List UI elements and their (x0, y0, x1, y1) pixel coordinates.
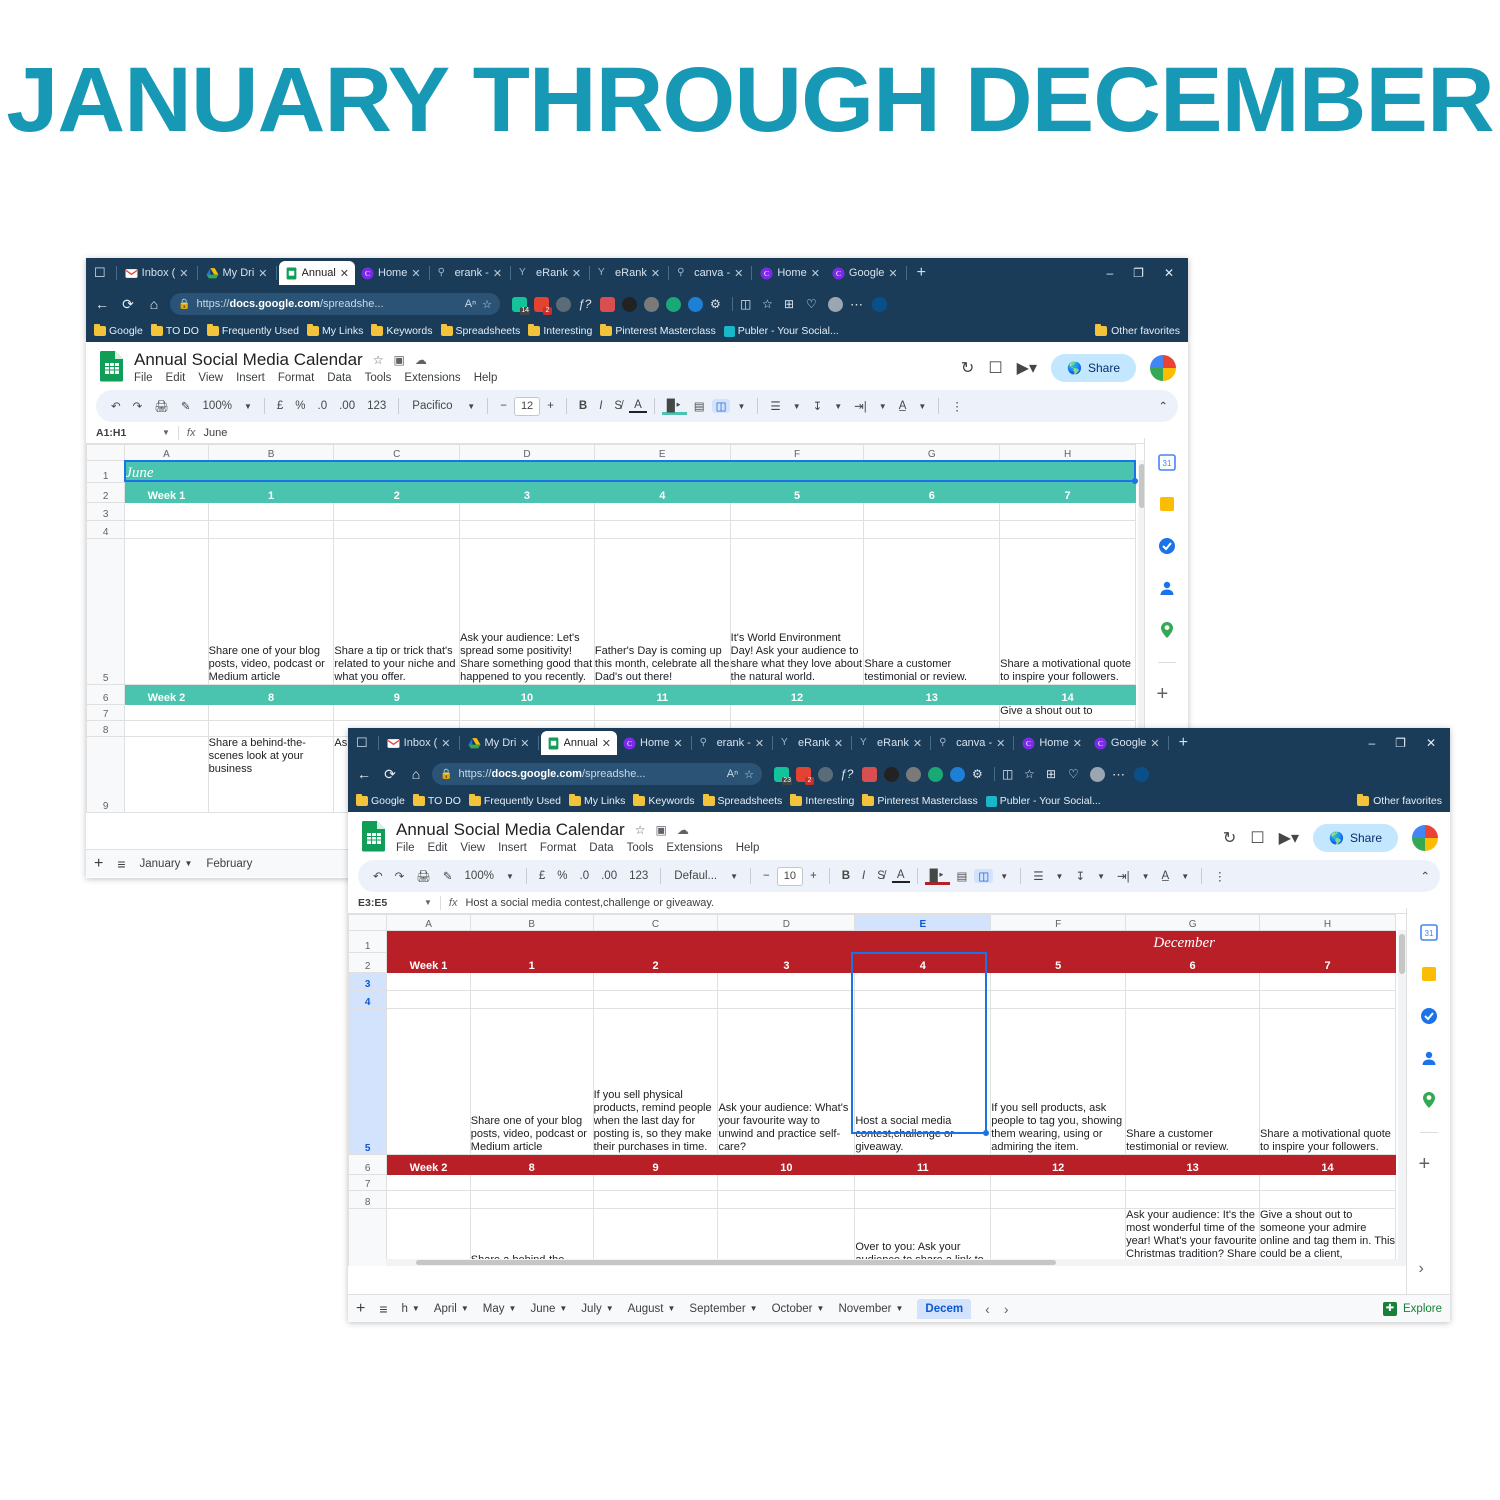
menu-view[interactable]: View (198, 372, 223, 384)
tab-canva-search[interactable]: ⚲ canva - ✕ (933, 731, 1011, 755)
name-box[interactable]: E3:E5 (352, 897, 424, 909)
week1-day[interactable]: 1 (208, 483, 334, 503)
fill-color-icon[interactable]: █‣ (662, 398, 687, 415)
tab-erank-1[interactable]: Y eRank ✕ (775, 731, 849, 755)
vertical-align-icon[interactable]: ↧ (808, 399, 828, 413)
collections-icon[interactable]: ☆ (762, 297, 777, 312)
row-header-4[interactable]: 4 (349, 991, 387, 1009)
grid-cell[interactable] (593, 991, 718, 1009)
horizontal-align-icon[interactable]: ☰ (765, 399, 785, 413)
menu-help[interactable]: Help (474, 372, 498, 384)
chevron-down-icon[interactable]: ▼ (1051, 872, 1069, 881)
comment-icon[interactable]: ☐ (1250, 828, 1264, 848)
col-header-e[interactable]: E (594, 445, 730, 461)
col-header-h[interactable]: H (1000, 445, 1136, 461)
decrease-font-size-button[interactable]: − (495, 400, 512, 412)
menu-format[interactable]: Format (540, 842, 576, 854)
more-options-icon[interactable]: ⋮ (1209, 869, 1231, 883)
row-header-8[interactable]: 8 (349, 1191, 387, 1209)
percent-button[interactable]: % (290, 400, 310, 412)
grid-cell[interactable] (864, 503, 1000, 521)
week2-day[interactable]: 8 (208, 685, 334, 705)
grid-cell[interactable] (125, 737, 208, 813)
bookmark-pinterest-masterclass[interactable]: Pinterest Masterclass (600, 325, 718, 337)
tab-erank-1[interactable]: Y eRank ✕ (513, 261, 587, 285)
bookmark-google[interactable]: Google (356, 795, 408, 807)
text-rotation-icon[interactable]: A̲ (1157, 870, 1175, 882)
calendar-icon[interactable]: 31 (1157, 452, 1177, 472)
profile-avatar[interactable] (1090, 767, 1105, 782)
home-icon[interactable]: ⌂ (406, 766, 426, 782)
vertical-align-icon[interactable]: ↧ (1070, 869, 1090, 883)
grid-cell[interactable] (387, 1191, 471, 1209)
print-icon[interactable]: 🖨 (149, 399, 174, 413)
chevron-down-icon[interactable]: ▼ (1137, 872, 1155, 881)
grid-cell[interactable] (1000, 503, 1136, 521)
wordtune-icon[interactable] (644, 297, 659, 312)
shopping-icon[interactable] (928, 767, 943, 782)
grid-cell[interactable] (991, 1191, 1126, 1209)
increase-decimal-button[interactable]: .00 (334, 400, 360, 412)
month-title-cell[interactable]: June (125, 461, 1136, 483)
grid-cell[interactable] (125, 721, 208, 737)
row-header-6[interactable]: 6 (349, 1155, 387, 1175)
close-icon[interactable]: ✕ (493, 267, 502, 280)
font-icon[interactable]: ƒ? (578, 297, 593, 312)
bookmark-my-links[interactable]: My Links (307, 325, 366, 337)
font-family-select[interactable]: Defaul... (668, 870, 723, 882)
row-header-6[interactable]: 6 (87, 685, 125, 705)
increase-decimal-button[interactable]: .00 (596, 870, 622, 882)
merge-cells-icon[interactable]: ◫ (712, 399, 731, 413)
sheet-tab-august[interactable]: August▼ (628, 1303, 676, 1315)
refresh-icon[interactable]: ⟳ (118, 296, 138, 313)
grid-cell[interactable] (1126, 973, 1260, 991)
browser-window-december[interactable]: ☐ Inbox ( ✕ My Dri ✕ Annual ✕ C Home (348, 728, 1450, 1322)
add-sheet-button[interactable]: + (356, 1300, 365, 1318)
menu-tools[interactable]: Tools (627, 842, 654, 854)
back-icon[interactable]: ← (92, 296, 112, 312)
bookmark-interesting[interactable]: Interesting (528, 325, 595, 337)
bookmark-publer[interactable]: Publer - Your Social... (986, 795, 1104, 807)
close-icon[interactable]: ✕ (340, 267, 349, 280)
grid-cell[interactable]: Father's Day is coming up this month, ce… (594, 539, 730, 685)
row-header-1[interactable]: 1 (349, 931, 387, 953)
keep-icon[interactable] (1419, 964, 1439, 984)
strikethrough-button[interactable]: S̸ (609, 400, 627, 412)
col-header-f[interactable]: F (991, 915, 1126, 931)
bookmark-keywords[interactable]: Keywords (633, 795, 697, 807)
comment-icon[interactable]: ☐ (988, 358, 1002, 378)
chevron-down-icon[interactable]: ▼ (1092, 872, 1110, 881)
row-header-3[interactable]: 3 (349, 973, 387, 991)
grid-cell[interactable] (991, 1175, 1126, 1191)
bold-button[interactable]: B (837, 870, 855, 882)
bing-copilot-icon[interactable] (872, 297, 887, 312)
close-icon[interactable]: ✕ (411, 267, 420, 280)
menu-insert[interactable]: Insert (236, 372, 265, 384)
split-screen-icon[interactable]: ◫ (740, 297, 755, 312)
grid-cell[interactable] (470, 1191, 593, 1209)
grid-cell[interactable]: If you sell products, ask people to tag … (991, 1009, 1126, 1155)
col-header-c[interactable]: C (334, 445, 460, 461)
grammarly-icon[interactable]: 14 (512, 297, 527, 312)
grid-cell[interactable] (594, 503, 730, 521)
week1-day[interactable]: 4 (594, 483, 730, 503)
zoom-level[interactable]: 100% (460, 870, 499, 882)
bookmark-pinterest-masterclass[interactable]: Pinterest Masterclass (862, 795, 980, 807)
week1-day[interactable]: 5 (730, 483, 864, 503)
version-history-icon[interactable]: ↻ (961, 358, 974, 378)
week2-day[interactable]: 12 (991, 1155, 1126, 1175)
tab-home-canva[interactable]: C Home ✕ (355, 261, 427, 285)
close-icon[interactable]: ✕ (888, 267, 897, 280)
grid-cell[interactable] (387, 973, 471, 991)
grid-cell[interactable] (208, 521, 334, 539)
close-icon[interactable]: ✕ (179, 267, 188, 280)
puzzle-icon[interactable]: ⚙ (710, 297, 725, 312)
grid-cell[interactable]: Ask your audience: What's your favourite… (718, 1009, 855, 1155)
decrease-decimal-button[interactable]: .0 (575, 870, 595, 882)
new-tab-button[interactable]: + (1171, 734, 1196, 752)
hypothesis-icon[interactable] (622, 297, 637, 312)
col-header-a[interactable]: A (125, 445, 208, 461)
name-box[interactable]: A1:H1 (90, 427, 162, 439)
grid-cell[interactable]: It's World Environment Day! Ask your aud… (730, 539, 864, 685)
menu-view[interactable]: View (460, 842, 485, 854)
grid-cell[interactable]: Share one of your blog posts, video, pod… (208, 539, 334, 685)
week1-day[interactable]: 2 (593, 953, 718, 973)
horizontal-align-icon[interactable]: ☰ (1028, 869, 1048, 883)
read-aloud-icon[interactable]: Aⁿ (727, 768, 738, 780)
corner-cell[interactable] (349, 915, 387, 931)
menu-edit[interactable]: Edit (166, 372, 186, 384)
toolbar-collapse[interactable]: ⌃ (1420, 869, 1430, 883)
text-wrap-icon[interactable]: ⇥| (1112, 869, 1135, 883)
close-icon[interactable]: ✕ (520, 737, 529, 750)
pen-icon[interactable] (600, 297, 615, 312)
close-icon[interactable]: ✕ (673, 737, 682, 750)
grid-cell[interactable] (991, 991, 1126, 1009)
grid-cell[interactable] (718, 1175, 855, 1191)
new-tab-button[interactable]: + (909, 264, 934, 282)
chevron-down-icon[interactable]: ▼ (874, 402, 892, 411)
pen-icon[interactable] (862, 767, 877, 782)
grid-cell[interactable] (718, 1209, 855, 1267)
col-header-d[interactable]: D (718, 915, 855, 931)
menu-extensions[interactable]: Extensions (666, 842, 722, 854)
month-title-cell[interactable]: December (387, 931, 1396, 953)
meet-icon[interactable]: ▶▾ (1017, 358, 1037, 378)
sheet-tab-november[interactable]: November▼ (838, 1303, 903, 1315)
increase-font-size-button[interactable]: + (805, 870, 822, 882)
italic-button[interactable]: I (857, 870, 870, 882)
grid-cell[interactable] (125, 521, 208, 539)
grid-cell[interactable]: Share a motivational quote to inspire yo… (1260, 1009, 1396, 1155)
grid-cell[interactable] (125, 705, 208, 721)
wordtune-icon[interactable] (906, 767, 921, 782)
sheet-tab-may[interactable]: May▼ (483, 1303, 517, 1315)
previous-sheet-button[interactable]: ‹ (985, 1301, 990, 1317)
minimize-button[interactable]: – (1096, 266, 1123, 280)
hypothesis-icon[interactable] (884, 767, 899, 782)
grid-cell[interactable] (1260, 973, 1396, 991)
bookmark-interesting[interactable]: Interesting (790, 795, 857, 807)
font-family-select[interactable]: Pacifico (406, 400, 460, 412)
sheet-tab-july[interactable]: July▼ (581, 1303, 613, 1315)
tab-inbox[interactable]: Inbox ( ✕ (119, 261, 195, 285)
close-icon[interactable]: ✕ (834, 737, 843, 750)
close-icon[interactable]: ✕ (1150, 737, 1159, 750)
col-header-g[interactable]: G (864, 445, 1000, 461)
grid-cell[interactable] (855, 973, 991, 991)
grid-cell[interactable] (1126, 1191, 1260, 1209)
col-header-a[interactable]: A (387, 915, 471, 931)
grid-cell[interactable]: Host a social media contest,challenge or… (855, 1009, 991, 1155)
minimize-button[interactable]: – (1358, 736, 1385, 750)
other-favorites[interactable]: Other favorites (1095, 325, 1180, 337)
tab-erank-2[interactable]: Y eRank ✕ (592, 261, 666, 285)
chevron-down-icon[interactable]: ▼ (162, 428, 170, 437)
redo-button[interactable]: ↷ (128, 399, 148, 413)
grid-cell[interactable] (125, 503, 208, 521)
chevron-down-icon[interactable]: ▼ (462, 402, 480, 411)
tasks-icon[interactable] (1157, 536, 1177, 556)
other-favorites[interactable]: Other favorites (1357, 795, 1442, 807)
italic-button[interactable]: I (594, 400, 607, 412)
grid-cell[interactable] (594, 705, 730, 721)
strikethrough-button[interactable]: S̸ (872, 870, 890, 882)
borders-icon[interactable]: ▤ (952, 869, 973, 883)
tab-home-canva[interactable]: C Home ✕ (617, 731, 689, 755)
bookmark-todo[interactable]: TO DO (151, 325, 202, 337)
week2-day[interactable]: 14 (1000, 685, 1136, 705)
bookmark-google[interactable]: Google (94, 325, 146, 337)
grid-cell[interactable] (730, 705, 864, 721)
grid-cell[interactable] (387, 1175, 471, 1191)
grid-cell[interactable] (594, 521, 730, 539)
tab-home-2[interactable]: C Home ✕ (1016, 731, 1088, 755)
grid-cell[interactable] (334, 503, 460, 521)
week1-label[interactable]: Week 1 (125, 483, 208, 503)
meet-icon[interactable]: ▶▾ (1279, 828, 1299, 848)
grid-cell[interactable] (208, 721, 334, 737)
share-button[interactable]: 🌎 Share (1313, 824, 1398, 852)
font-size-input[interactable]: 12 (514, 397, 540, 416)
grid-cell[interactable]: Ask your audience: It's the most wonderf… (1126, 1209, 1260, 1267)
next-sheet-button[interactable]: › (1004, 1301, 1009, 1317)
grid-cell[interactable] (991, 973, 1126, 991)
grid-cell[interactable] (470, 1175, 593, 1191)
text-color-button[interactable]: A (629, 399, 647, 413)
close-icon[interactable]: ✕ (811, 267, 820, 280)
week2-day[interactable]: 9 (334, 685, 460, 705)
tab-inbox[interactable]: Inbox ( ✕ (381, 731, 457, 755)
close-icon[interactable]: ✕ (913, 737, 922, 750)
grid-cell[interactable] (334, 521, 460, 539)
col-header-h[interactable]: H (1260, 915, 1396, 931)
grammarly-icon[interactable]: 23 (774, 767, 789, 782)
week2-day[interactable]: 11 (855, 1155, 991, 1175)
grid-cell[interactable]: Give a shout out to someone your admire … (1260, 1209, 1396, 1267)
grid-cell[interactable]: Share a behind-the-scenes look at your b… (208, 737, 334, 813)
tab-annual-calendar[interactable]: Annual ✕ (279, 261, 355, 285)
redo-button[interactable]: ↷ (390, 869, 410, 883)
refresh-icon[interactable]: ⟳ (380, 766, 400, 783)
bookmark-todo[interactable]: TO DO (413, 795, 464, 807)
profile-avatar[interactable] (828, 297, 843, 312)
shopping-icon[interactable] (666, 297, 681, 312)
currency-button[interactable]: £ (272, 400, 288, 412)
sheet-tab-june[interactable]: June▼ (530, 1303, 567, 1315)
video-icon[interactable] (688, 297, 703, 312)
grid-cell[interactable] (470, 991, 593, 1009)
week2-day[interactable]: 14 (1260, 1155, 1396, 1175)
close-icon[interactable]: ✕ (258, 267, 267, 280)
sheet-tab-february[interactable]: February (206, 858, 252, 870)
add-favorite-icon[interactable]: ⊞ (1046, 767, 1061, 782)
week1-day[interactable]: 3 (460, 483, 595, 503)
currency-button[interactable]: £ (534, 870, 550, 882)
collapse-icon[interactable]: ⌃ (1158, 399, 1168, 413)
grid-cell[interactable] (593, 973, 718, 991)
cloud-saved-icon[interactable]: ☁ (677, 823, 689, 837)
star-icon[interactable]: ☆ (635, 823, 646, 837)
bookmark-frequently-used[interactable]: Frequently Used (207, 325, 302, 337)
browser-essentials-icon[interactable]: ♡ (806, 297, 821, 312)
week2-day[interactable]: 8 (470, 1155, 593, 1175)
menu-insert[interactable]: Insert (498, 842, 527, 854)
week2-day[interactable]: 9 (593, 1155, 718, 1175)
text-wrap-icon[interactable]: ⇥| (849, 399, 872, 413)
week2-day[interactable]: 13 (864, 685, 1000, 705)
tab-google[interactable]: C Google ✕ (1088, 731, 1166, 755)
close-icon[interactable]: ✕ (602, 737, 611, 750)
cloud-saved-icon[interactable]: ☁ (415, 353, 427, 367)
menu-file[interactable]: File (396, 842, 415, 854)
address-bar[interactable]: 🔒 https://docs.google.com/spreadshe... A… (432, 763, 762, 785)
collapse-icon[interactable]: ⌃ (1420, 869, 1430, 883)
formula-input[interactable]: Host a social media contest,challenge or… (465, 897, 714, 909)
grid-cell[interactable] (730, 503, 864, 521)
power-icon[interactable] (818, 767, 833, 782)
col-header-b[interactable]: B (208, 445, 334, 461)
back-icon[interactable]: ← (354, 766, 374, 782)
collections-icon[interactable]: ☆ (1024, 767, 1039, 782)
close-button[interactable]: ✕ (1154, 266, 1184, 280)
menu-format[interactable]: Format (278, 372, 314, 384)
row-header-2[interactable]: 2 (349, 953, 387, 973)
bookmark-publer[interactable]: Publer - Your Social... (724, 325, 842, 337)
maximize-button[interactable]: ❐ (1385, 736, 1416, 750)
menu-tools[interactable]: Tools (365, 372, 392, 384)
grid-cell[interactable] (208, 503, 334, 521)
row-header-5[interactable]: 5 (87, 539, 125, 685)
paint-format-icon[interactable]: ✎ (438, 869, 458, 883)
menu-file[interactable]: File (134, 372, 153, 384)
grid-cell[interactable] (730, 521, 864, 539)
more-formats-button[interactable]: 123 (624, 870, 653, 882)
close-icon[interactable]: ✕ (755, 737, 764, 750)
week2-day[interactable]: 12 (730, 685, 864, 705)
contacts-icon[interactable] (1419, 1048, 1439, 1068)
week2-label[interactable]: Week 2 (125, 685, 208, 705)
grid-cell[interactable] (855, 991, 991, 1009)
menu-help[interactable]: Help (736, 842, 760, 854)
add-sheet-button[interactable]: + (94, 855, 103, 873)
grid-cell[interactable] (718, 973, 855, 991)
star-icon[interactable]: ☆ (744, 768, 754, 781)
bookmark-keywords[interactable]: Keywords (371, 325, 435, 337)
week2-day[interactable]: 13 (1126, 1155, 1260, 1175)
week2-day[interactable]: 10 (718, 1155, 855, 1175)
week1-day[interactable]: 4 (855, 953, 991, 973)
row-header-7[interactable]: 7 (87, 705, 125, 721)
power-icon[interactable] (556, 297, 571, 312)
expand-panel-icon[interactable]: › (1419, 1260, 1439, 1280)
bookmark-spreadsheets[interactable]: Spreadsheets (703, 795, 786, 807)
bookmark-frequently-used[interactable]: Frequently Used (469, 795, 564, 807)
all-sheets-button[interactable]: ≡ (379, 1301, 387, 1317)
grid-cell[interactable] (1260, 1175, 1396, 1191)
tab-annual-calendar[interactable]: Annual ✕ (541, 731, 617, 755)
more-options-icon[interactable]: ⋮ (946, 399, 968, 413)
chevron-down-icon[interactable]: ▼ (788, 402, 806, 411)
bookmark-my-links[interactable]: My Links (569, 795, 628, 807)
settings-more-icon[interactable]: ⋯ (850, 297, 865, 312)
tab-erank-search[interactable]: ⚲ erank - ✕ (432, 261, 508, 285)
grid-cell[interactable]: Share a tip or trick (593, 1209, 718, 1267)
col-header-e[interactable]: E (855, 915, 991, 931)
sheet-tab-partial[interactable]: h▼ (402, 1303, 420, 1315)
horizontal-scrollbar[interactable] (386, 1259, 1400, 1266)
grid-cell[interactable]: Share a motivational quote to inspire yo… (1000, 539, 1136, 685)
document-title[interactable]: Annual Social Media Calendar (396, 820, 625, 840)
menu-edit[interactable]: Edit (428, 842, 448, 854)
grid-cell[interactable] (593, 1175, 718, 1191)
row-header-3[interactable]: 3 (87, 503, 125, 521)
font-size-input[interactable]: 10 (777, 867, 803, 886)
grid-cell[interactable] (991, 1209, 1126, 1267)
tab-home-2[interactable]: C Home ✕ (754, 261, 826, 285)
keep-icon[interactable] (1157, 494, 1177, 514)
col-header-b[interactable]: B (470, 915, 593, 931)
chevron-down-icon[interactable]: ▼ (501, 872, 519, 881)
home-icon[interactable]: ⌂ (144, 296, 164, 312)
grid-cell[interactable]: Share a behind-the-scenes (470, 1209, 593, 1267)
explore-button[interactable]: ✚ Explore (1383, 1302, 1442, 1316)
sheet-tab-september[interactable]: September▼ (689, 1303, 757, 1315)
undo-button[interactable]: ↶ (368, 869, 388, 883)
grid-cell[interactable]: Share a tip or trick that's related to y… (334, 539, 460, 685)
grid-cell[interactable] (1000, 521, 1136, 539)
todoist-icon[interactable]: 2 (796, 767, 811, 782)
row-header-9[interactable]: 9 (87, 737, 125, 813)
tab-google[interactable]: C Google ✕ (826, 261, 904, 285)
text-color-button[interactable]: A (892, 869, 910, 883)
week1-day[interactable]: 7 (1000, 483, 1136, 503)
row-header-4[interactable]: 4 (87, 521, 125, 539)
avatar[interactable] (1412, 825, 1438, 851)
close-icon[interactable]: ✕ (734, 267, 743, 280)
grid-cell[interactable] (1126, 1175, 1260, 1191)
close-icon[interactable]: ✕ (651, 267, 660, 280)
maps-icon[interactable] (1157, 620, 1177, 640)
bing-copilot-icon[interactable] (1134, 767, 1149, 782)
tasks-icon[interactable] (1419, 1006, 1439, 1026)
merge-cells-icon[interactable]: ◫ (974, 869, 993, 883)
bookmark-spreadsheets[interactable]: Spreadsheets (441, 325, 524, 337)
